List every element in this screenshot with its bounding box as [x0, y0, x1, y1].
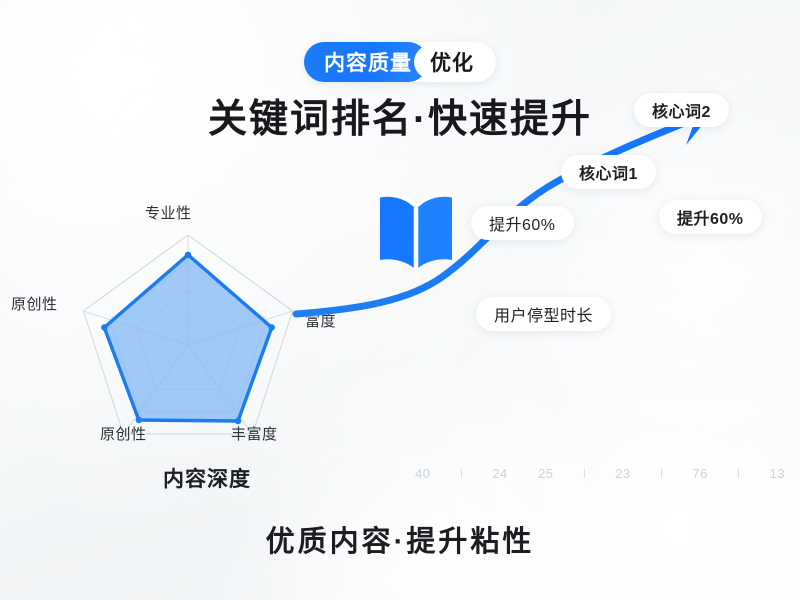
pill-uplift-right[interactable]: 提升60% — [659, 200, 762, 234]
badge-sub-label: 优化 — [414, 45, 490, 79]
pill-core-keyword-2[interactable]: 核心词2 — [634, 93, 729, 127]
ruler-tick-1: 24 — [492, 466, 507, 481]
radar-axis-label-top: 专业性 — [145, 202, 192, 223]
radar-axis-label-bottom-left: 原创性 — [100, 423, 147, 444]
open-book-icon — [372, 186, 460, 278]
radar-axis-label-bottom-right: 丰富度 — [231, 423, 278, 444]
page-footer-title: 优质内容·提升粘性 — [0, 518, 800, 560]
pill-dwell-time[interactable]: 用户停型时长 — [476, 297, 611, 331]
ruler-tick-5: 13 — [770, 466, 785, 481]
ruler-mark — [461, 469, 462, 478]
axis-ruler: 40 24 25 23 76 13 — [415, 462, 785, 484]
radar-data-area — [104, 255, 271, 421]
ruler-tick-3: 23 — [615, 466, 630, 481]
badge-main-label: 内容质量 — [304, 42, 428, 82]
ruler-mark — [584, 469, 585, 478]
ruler-mark — [661, 469, 662, 478]
content-depth-caption: 内容深度 — [163, 463, 251, 493]
poster-canvas: 内容质量 优化 关键词排名·快速提升 — [0, 0, 800, 600]
content-quality-badge[interactable]: 内容质量 优化 — [304, 42, 496, 82]
radar-axis-label-left: 原创性 — [11, 293, 58, 314]
ruler-tick-4: 76 — [692, 466, 707, 481]
pill-core-keyword-1[interactable]: 核心词1 — [561, 155, 656, 189]
ruler-mark — [738, 469, 739, 478]
ruler-tick-0: 40 — [415, 466, 430, 481]
pill-uplift-left[interactable]: 提升60% — [471, 206, 574, 240]
ruler-tick-2: 25 — [538, 466, 553, 481]
